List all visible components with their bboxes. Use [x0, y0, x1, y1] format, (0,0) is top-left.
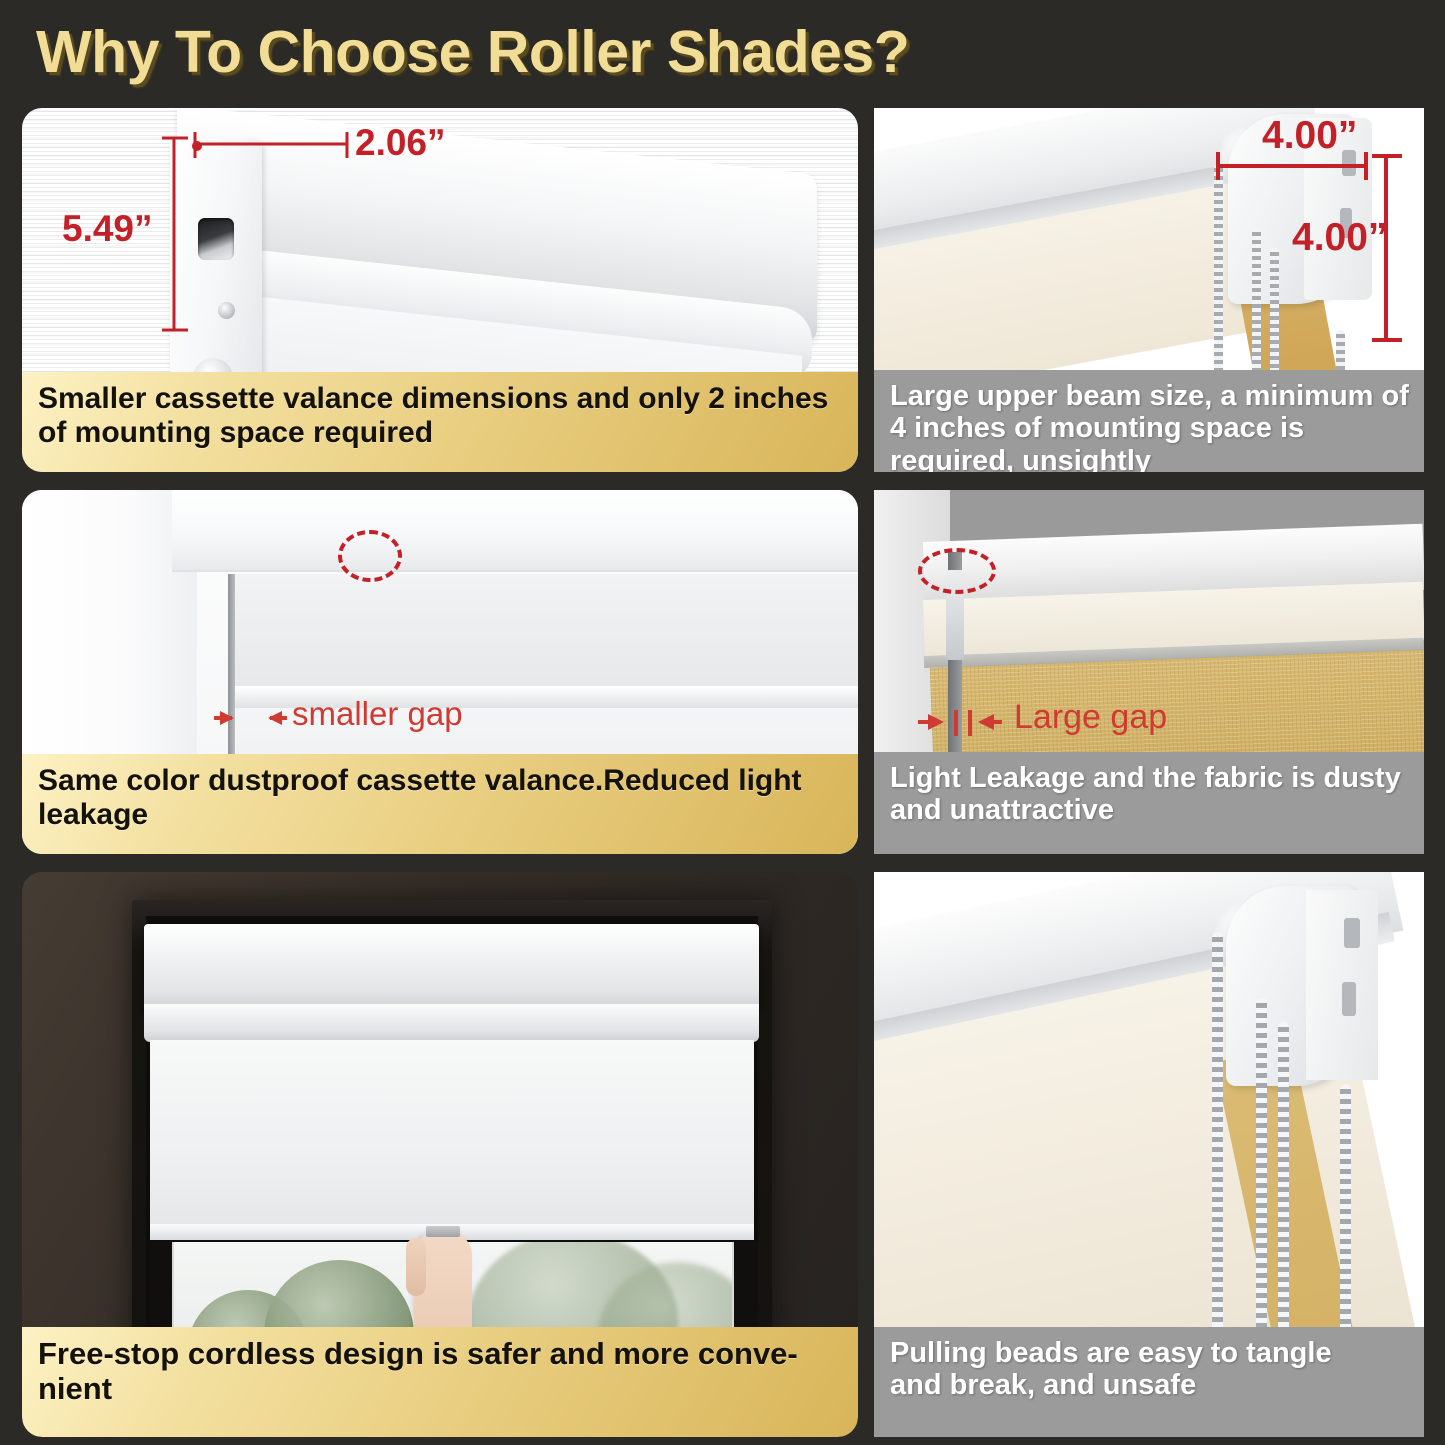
caption-line-2: and break, and unsafe	[890, 1369, 1196, 1401]
comparison-grid: 2.06” 5.49” Smaller cassette valance dim…	[0, 108, 1445, 1445]
caption-large-upper-beam: Large upper beam size, a minimum of 4 in…	[874, 370, 1424, 472]
caption-line-2: nient	[38, 1371, 112, 1406]
bead-chain	[1212, 932, 1223, 1372]
caption-light-leakage: Light Leakage and the fabric is dusty an…	[874, 752, 1424, 854]
caption-cordless-design: Free-stop cordless design is safer and m…	[22, 1327, 858, 1437]
panel-light-leakage[interactable]: Large gap Light Leakage and the fabric i…	[874, 490, 1424, 854]
bead-chain	[1256, 998, 1267, 1378]
page-title: Why To Choose Roller Shades?	[36, 18, 909, 86]
caption-smaller-cassette: Smaller cassette valance dimensions and …	[22, 372, 858, 472]
panel-large-upper-beam[interactable]: 4.00” 4.00” Large upper beam size, a min…	[874, 108, 1424, 472]
cassette-valance	[144, 924, 759, 1010]
thumb	[406, 1238, 426, 1296]
shade-fabric	[150, 1040, 754, 1232]
bead-chain	[1278, 1022, 1289, 1378]
caption-line-1: Free-stop cordless design is safer and m…	[38, 1336, 798, 1371]
bracket-slot-icon	[1342, 982, 1356, 1016]
panel-cordless-design[interactable]: Free-stop cordless design is safer and m…	[22, 872, 858, 1437]
panel-smaller-cassette[interactable]: 2.06” 5.49” Smaller cassette valance dim…	[22, 108, 858, 472]
caption-line-1: Pulling beads are easy to tangle	[890, 1337, 1332, 1369]
panel-pulling-beads[interactable]: Pulling beads are easy to tangle and bre…	[874, 872, 1424, 1437]
bracket-slot-icon	[1344, 918, 1360, 948]
pull-tab	[426, 1226, 460, 1237]
panel-dustproof-valance[interactable]: smaller gap Same color dustproof cassett…	[22, 490, 858, 854]
caption-dustproof-valance: Same color dustproof cassette valance.Re…	[22, 754, 858, 854]
valance-lip	[144, 1004, 759, 1042]
caption-pulling-beads: Pulling beads are easy to tangle and bre…	[874, 1327, 1424, 1437]
